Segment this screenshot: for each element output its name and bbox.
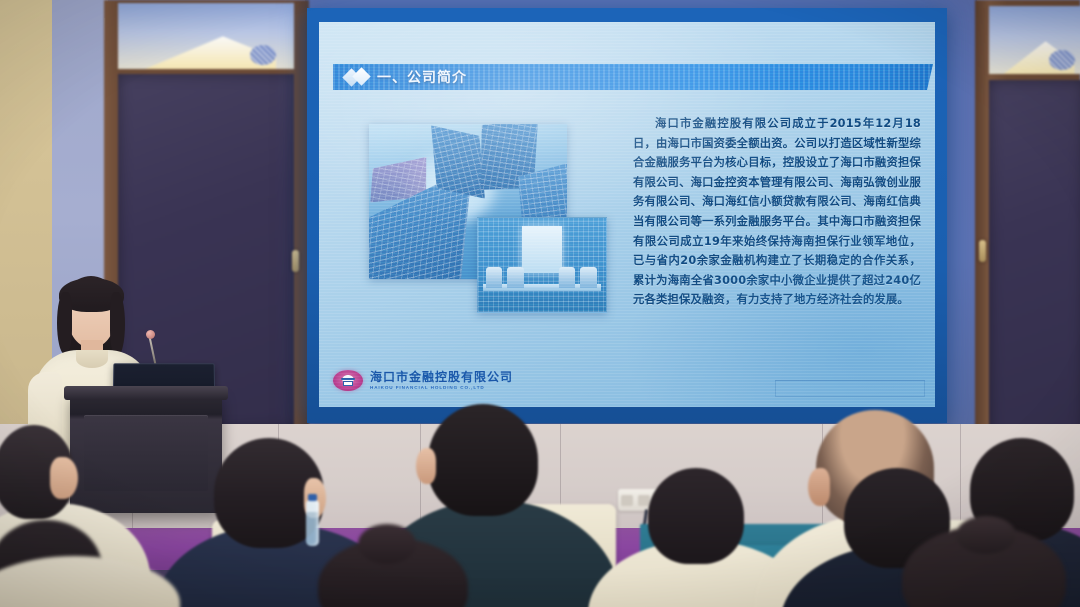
door-right[interactable] xyxy=(975,0,1080,440)
transom-window-left xyxy=(118,3,294,69)
bottle-cap xyxy=(308,494,317,501)
presenter-collar xyxy=(76,350,108,368)
room-photo-chair xyxy=(507,267,524,288)
microphone-head-icon xyxy=(146,330,155,339)
ceiling-vent-icon xyxy=(1049,50,1075,70)
conference-photo-scene: 一、公司简介 海口市金融控股有限公司成立于2015年1 xyxy=(0,0,1080,607)
room-photo-chair xyxy=(580,267,597,288)
slide-body-text: 海口市金融控股有限公司成立于2015年12月18日，由海口市国资委全额出资。公司… xyxy=(633,114,921,310)
room-photo-chair xyxy=(559,267,576,288)
footer-box xyxy=(775,381,925,397)
projection-screen: 一、公司简介 海口市金融控股有限公司成立于2015年1 xyxy=(319,22,935,407)
slide-title-bar: 一、公司简介 xyxy=(333,64,933,90)
audience-head xyxy=(648,468,744,564)
audience-member xyxy=(0,556,170,607)
slide-title: 一、公司简介 xyxy=(377,67,467,87)
room-photo-screen xyxy=(522,226,563,273)
transom-window-right xyxy=(989,6,1080,74)
presenter-hair-side xyxy=(110,292,125,356)
presenter-hair-side xyxy=(57,292,72,354)
audience-member xyxy=(318,524,508,607)
audience-shoulders xyxy=(0,556,180,607)
door-handle-left[interactable] xyxy=(292,250,299,272)
slide-footer-logo: 海口市金融控股有限公司 HAIKOU FINANCIAL HOLDING CO.… xyxy=(333,370,513,391)
audience-head xyxy=(428,404,538,516)
haikou-financial-holding-logo-icon xyxy=(333,370,363,391)
audience-hair-bun xyxy=(358,524,416,564)
logo-company-en: HAIKOU FINANCIAL HOLDING CO.,LTD xyxy=(370,386,513,391)
projection-screen-frame: 一、公司简介 海口市金融控股有限公司成立于2015年1 xyxy=(307,8,947,423)
lectern-top xyxy=(64,386,228,400)
room-photo-chair xyxy=(486,267,503,288)
audience-face-profile xyxy=(50,457,78,499)
double-diamond-icon xyxy=(345,68,375,86)
slide-image-meeting-room xyxy=(477,217,607,313)
door-panel-right xyxy=(989,80,1080,440)
logo-company-cn: 海口市金融控股有限公司 xyxy=(370,371,513,383)
door-handle-right[interactable] xyxy=(979,240,986,262)
audience-hair-bun xyxy=(956,516,1016,554)
audience-member xyxy=(902,516,1080,607)
audience-ear xyxy=(416,448,436,484)
